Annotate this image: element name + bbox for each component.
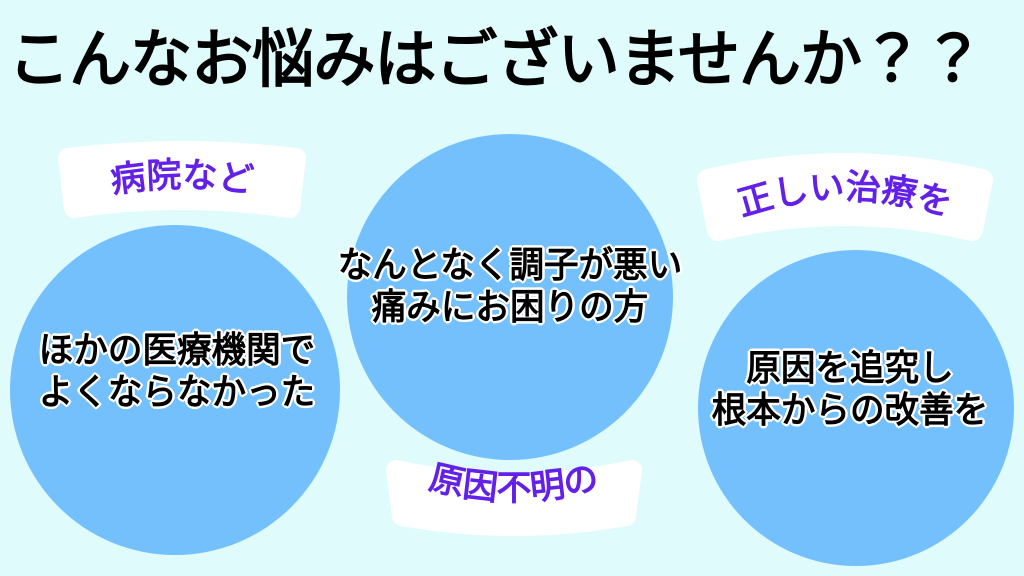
bubble-text-center: なんとなく調子が悪い 痛みにお困りの方 — [308, 245, 711, 329]
bubble-text-center-line2: 痛みにお困りの方 — [308, 287, 711, 329]
bubble-text-left-line1: ほかの医療機関で — [11, 330, 343, 372]
badge-left-shape — [68, 151, 296, 208]
page-title: こんなお悩みはございませんか？？ — [8, 14, 1003, 106]
badge-bottom: 原因不明の — [386, 458, 642, 534]
bubble-text-left: ほかの医療機関で よくならなかった — [11, 330, 343, 414]
bubble-text-center-line1: なんとなく調子が悪い — [308, 245, 711, 287]
bubble-text-right: 原因を追究し 根本からの改善を — [683, 348, 1017, 432]
bubble-text-left-line2: よくならなかった — [11, 372, 343, 414]
badge-right: 正しい治療を — [700, 162, 990, 254]
bubble-text-right-line2: 根本からの改善を — [683, 390, 1017, 432]
badge-left: 病院など — [62, 152, 302, 230]
bubble-text-right-line1: 原因を追究し — [683, 348, 1017, 390]
badge-bottom-label-text: 原因不明の — [426, 458, 603, 509]
badge-bottom-textpath: 原因不明の — [426, 458, 603, 509]
slide-canvas: こんなお悩みはございませんか？？ ほかの医療機関で よくならなかった なんとなく… — [0, 0, 1024, 576]
